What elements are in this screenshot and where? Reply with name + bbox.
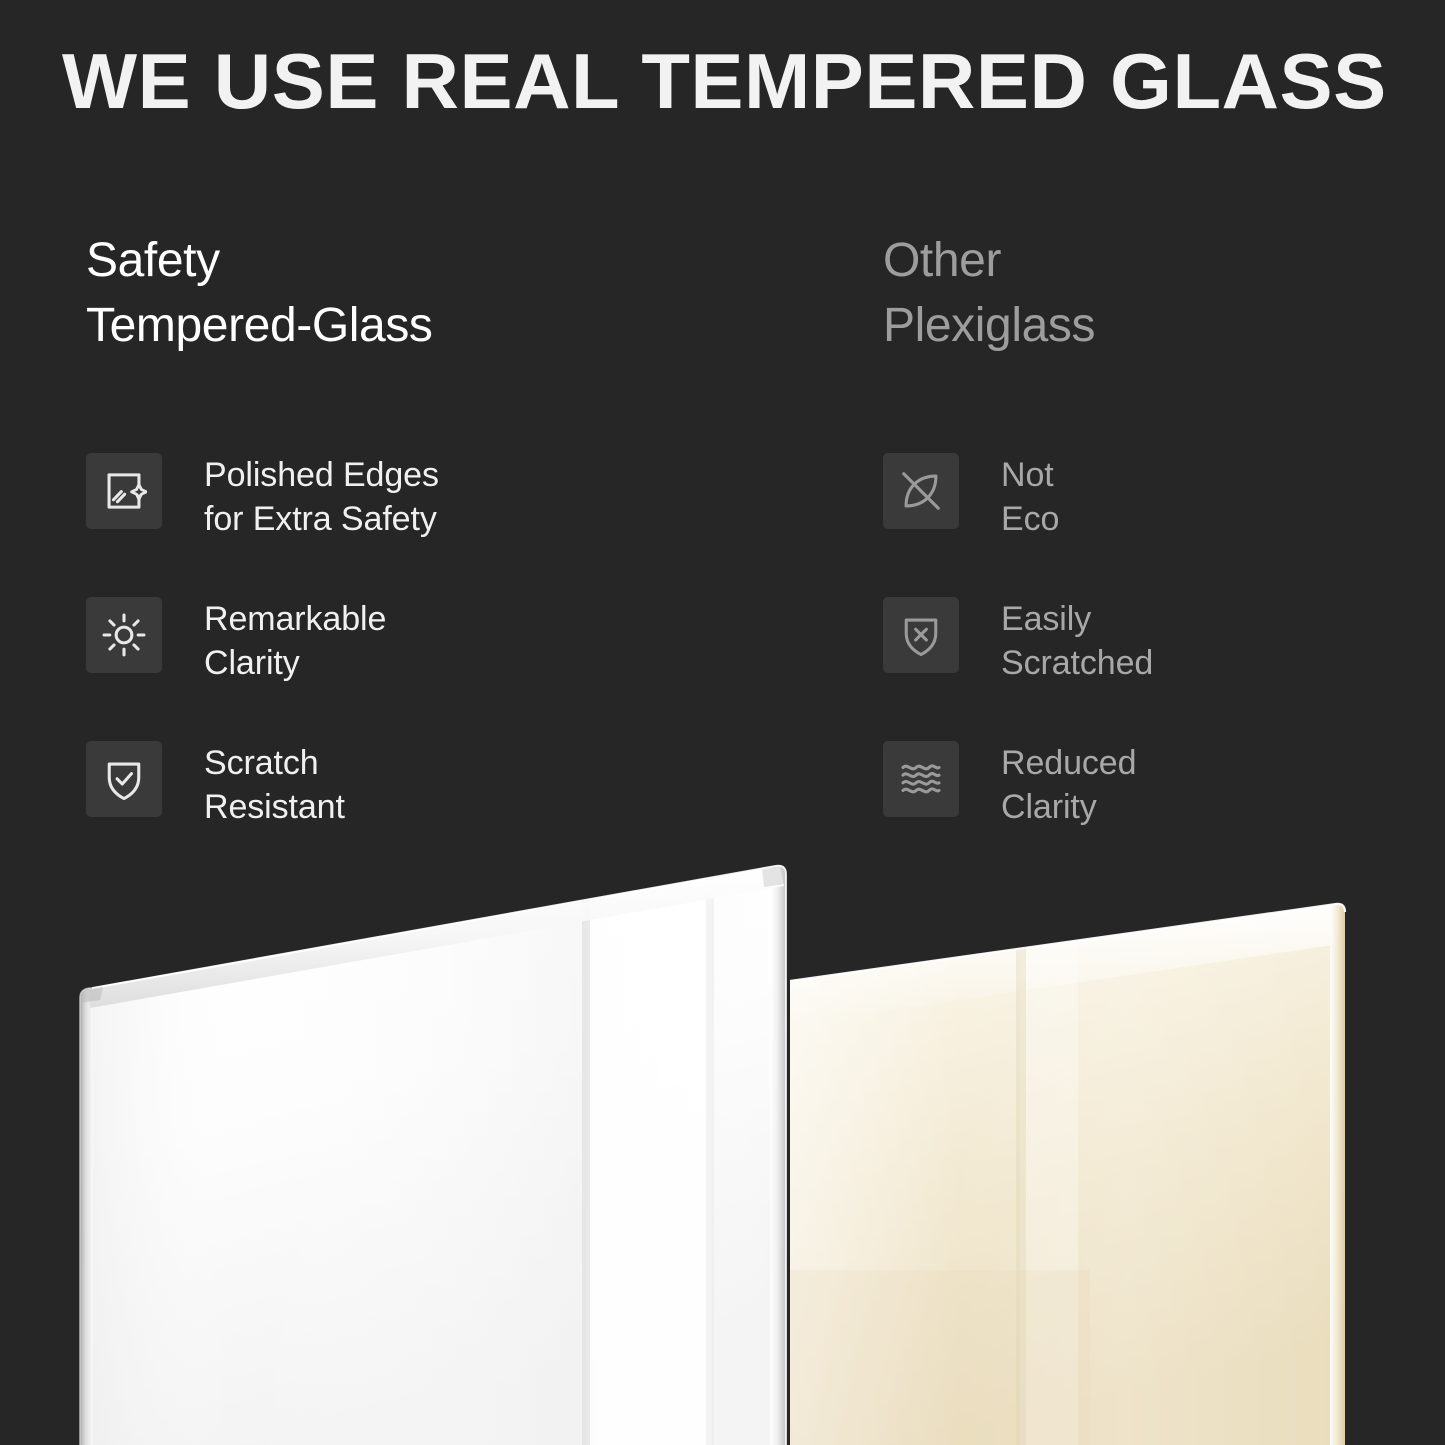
feature-label: Reduced Clarity	[1001, 739, 1136, 831]
feature-not-eco: Not Eco	[883, 451, 1413, 595]
feature-list-plexiglass: Not Eco Easily Scratched	[883, 451, 1413, 883]
sun-clarity-icon	[86, 597, 162, 673]
feature-label: Not Eco	[1001, 451, 1059, 543]
comparison-infographic: WE USE REAL TEMPERED GLASS Safety Temper…	[0, 0, 1445, 1445]
glass-panels-illustration	[0, 840, 1445, 1445]
column-title-plexiglass: Other Plexiglass	[883, 228, 1413, 359]
plexiglass-panel	[790, 900, 1350, 1445]
column-other-plexiglass: Other Plexiglass Not Eco	[883, 228, 1413, 883]
feature-easily-scratched: Easily Scratched	[883, 595, 1413, 739]
column-title-tempered-glass: Safety Tempered-Glass	[86, 228, 806, 359]
feature-remarkable-clarity: Remarkable Clarity	[86, 595, 806, 739]
feature-label: Easily Scratched	[1001, 595, 1153, 687]
shield-x-icon	[883, 597, 959, 673]
feature-list-tempered-glass: Polished Edges for Extra Safety Remarkab…	[86, 451, 806, 883]
shield-check-icon	[86, 741, 162, 817]
feature-label: Polished Edges for Extra Safety	[204, 451, 439, 543]
feature-polished-edges: Polished Edges for Extra Safety	[86, 451, 806, 595]
feature-label: Scratch Resistant	[204, 739, 345, 831]
page-title: WE USE REAL TEMPERED GLASS	[62, 42, 1419, 120]
leaf-crossed-out-icon	[883, 453, 959, 529]
polished-glass-sparkle-icon	[86, 453, 162, 529]
column-safety-tempered-glass: Safety Tempered-Glass Polished Edges for…	[86, 228, 806, 883]
wavy-lines-icon	[883, 741, 959, 817]
tempered-glass-panel	[80, 864, 790, 1445]
feature-label: Remarkable Clarity	[204, 595, 386, 687]
comparison-columns: Safety Tempered-Glass Polished Edges for…	[0, 228, 1445, 828]
